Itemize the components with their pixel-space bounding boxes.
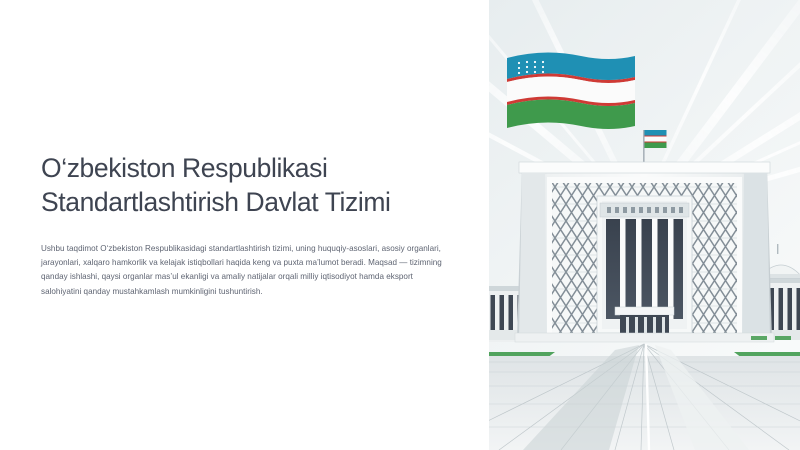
waving-uzbekistan-flag — [507, 52, 635, 129]
text-panel: O‘zbekiston Respublikasi Standartlashtir… — [0, 0, 489, 450]
illustration-panel — [489, 0, 800, 450]
lattice-facade-right — [689, 183, 737, 333]
main-building — [515, 162, 774, 342]
tiled-plaza — [489, 344, 800, 450]
description-paragraph: Ushbu taqdimot O‘zbekiston Respublikasid… — [41, 242, 445, 300]
lattice-facade-left — [552, 183, 600, 333]
page-title: O‘zbekiston Respublikasi Standartlashtir… — [41, 151, 445, 220]
slide-root: O‘zbekiston Respublikasi Standartlashtir… — [0, 0, 800, 450]
uzbekistan-government-building-illustration — [489, 0, 800, 450]
